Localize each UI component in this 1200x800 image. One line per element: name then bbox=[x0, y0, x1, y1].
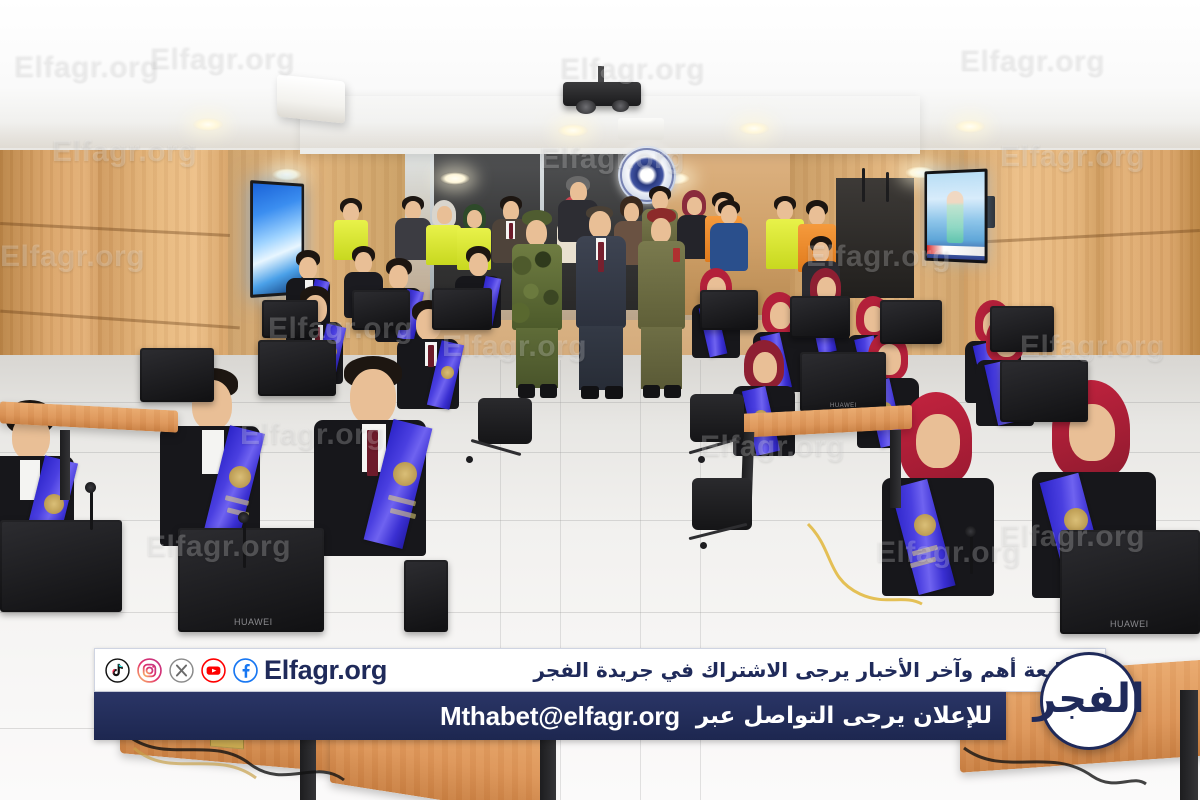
screenshot-root: HUAWEI HUAWEI HUAWEI bbox=[0, 0, 1200, 800]
office-chair bbox=[692, 478, 752, 530]
ceiling-downlight bbox=[440, 172, 470, 185]
wall-air-conditioner-small bbox=[618, 118, 664, 140]
computer-monitor bbox=[432, 288, 492, 330]
ceiling-downlight bbox=[739, 122, 769, 135]
office-chair bbox=[478, 398, 532, 444]
ceiling-edge-band bbox=[0, 122, 1200, 148]
camouflage-jacket bbox=[512, 244, 562, 330]
microphone-head bbox=[238, 512, 249, 523]
desk-leg bbox=[890, 430, 901, 508]
tv-news-ticker bbox=[927, 245, 985, 256]
computer-monitor bbox=[880, 300, 942, 344]
computer-monitor bbox=[0, 520, 122, 612]
monitor-brand-label: HUAWEI bbox=[234, 617, 273, 627]
desk-brass-plaque bbox=[1064, 685, 1096, 731]
desk-leg bbox=[1180, 690, 1198, 800]
desk-gooseneck-microphone bbox=[90, 490, 93, 530]
ceiling-downlight bbox=[558, 124, 588, 137]
computer-monitor: HUAWEI bbox=[1060, 530, 1200, 634]
microphone-head bbox=[85, 482, 96, 493]
necktie bbox=[598, 242, 604, 272]
rank-insignia bbox=[673, 248, 680, 262]
ceiling-mic-stand bbox=[886, 172, 889, 202]
computer-monitor: HUAWEI bbox=[800, 352, 886, 412]
desk-gooseneck-microphone bbox=[243, 520, 246, 568]
floor-cables bbox=[960, 738, 1150, 800]
projector-lens bbox=[612, 100, 629, 112]
computer-monitor bbox=[990, 306, 1054, 352]
computer-monitor bbox=[258, 340, 336, 396]
floor-tile-line bbox=[560, 360, 561, 800]
desk-leg bbox=[540, 690, 556, 800]
desk-leg bbox=[60, 430, 70, 500]
computer-monitor bbox=[700, 290, 758, 330]
computer-monitor bbox=[140, 348, 214, 402]
monitor-brand-label: HUAWEI bbox=[1110, 619, 1149, 629]
ceiling-downlight bbox=[193, 118, 223, 131]
ceiling-downlight bbox=[272, 168, 302, 181]
computer-monitor bbox=[262, 300, 318, 338]
projector-lens bbox=[576, 100, 596, 114]
ceiling-downlight bbox=[955, 120, 985, 133]
microphone-head bbox=[965, 526, 976, 537]
desk-gooseneck-microphone bbox=[970, 534, 973, 574]
floor-cables bbox=[120, 728, 350, 798]
wall-mounted-television bbox=[924, 168, 987, 263]
room-scene: HUAWEI HUAWEI HUAWEI bbox=[0, 0, 1200, 800]
chair-caster bbox=[700, 542, 707, 549]
office-chair bbox=[690, 394, 744, 442]
computer-monitor: HUAWEI bbox=[178, 528, 324, 632]
chair-caster bbox=[698, 456, 705, 463]
computer-monitor bbox=[790, 296, 850, 338]
chair-caster bbox=[466, 456, 473, 463]
ceiling-projector bbox=[563, 82, 641, 106]
floor-tile-line bbox=[640, 360, 641, 800]
ceiling-mic-stand bbox=[862, 168, 865, 202]
computer-monitor bbox=[352, 290, 410, 330]
computer-monitor bbox=[1000, 360, 1088, 422]
computer-monitor bbox=[404, 560, 448, 632]
rear-equipment-cabinet bbox=[836, 178, 914, 298]
tv-broadcast-figure bbox=[947, 191, 964, 243]
cable-run bbox=[800, 520, 930, 610]
wall-air-conditioner bbox=[277, 74, 345, 123]
